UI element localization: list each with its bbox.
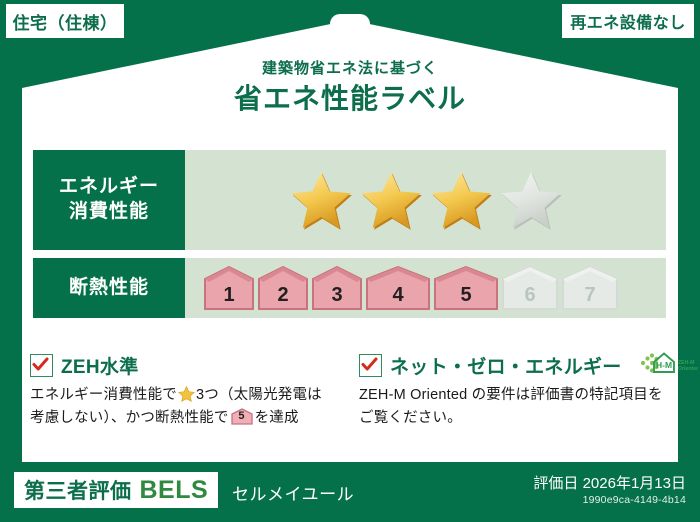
insulation-level-number: 4: [392, 284, 403, 310]
insulation-level-1: 1: [203, 266, 255, 310]
insulation-label-text: 断熱性能: [69, 276, 149, 301]
feature-zeh-body: エネルギー消費性能で3つ（太陽光発電は考慮しない）、かつ断熱性能で5を達成: [30, 384, 335, 431]
insulation-performance-label: 断熱性能: [33, 258, 185, 318]
zeh-m-oriented-logo-icon: H-M ZEH-M Oriented: [636, 350, 698, 381]
zeh-body-post: を達成: [255, 410, 299, 426]
inline-house-badge: 5: [231, 408, 253, 425]
evaluation-id: 1990e9ca-4149-4b14: [583, 494, 686, 506]
svg-text:Oriented: Oriented: [678, 366, 698, 372]
feature-zeh-standard: ZEH水準 エネルギー消費性能で3つ（太陽光発電は考慮しない）、かつ断熱性能で5…: [30, 352, 335, 431]
inline-star-icon: [178, 386, 195, 402]
title-main: 省エネ性能ラベル: [0, 80, 700, 118]
feature-nze-header: ネット・ゼロ・エネルギー H-M ZEH-M Oriente: [359, 352, 664, 378]
zeh-body-pre: エネルギー消費性能で: [30, 387, 177, 403]
insulation-level-4: 4: [365, 266, 431, 310]
feature-columns: ZEH水準 エネルギー消費性能で3つ（太陽光発電は考慮しない）、かつ断熱性能で5…: [30, 352, 670, 431]
page-title: 建築物省エネ法に基づく 省エネ性能ラベル: [0, 60, 700, 118]
insulation-level-number: 3: [331, 284, 342, 310]
energy-performance-label: 住宅（住棟） 再エネ設備なし 建築物省エネ法に基づく 省エネ性能ラベル エネルギ…: [0, 0, 700, 522]
insulation-level-number: 5: [460, 284, 471, 310]
energy-performance-row: エネルギー 消費性能: [33, 150, 666, 250]
insulation-level-3: 3: [311, 266, 363, 310]
insulation-level-number: 2: [277, 284, 288, 310]
star-empty-icon: [500, 170, 562, 230]
insulation-level-number: 6: [524, 284, 535, 310]
feature-nze-body: ZEH-M Oriented の要件は評価書の特記項目をご覧ください。: [359, 384, 664, 431]
house-rating-scale: 1234567: [203, 266, 619, 310]
third-party-label: 第三者評価: [24, 475, 132, 505]
feature-zeh-header: ZEH水準: [30, 352, 335, 378]
energy-label-line1: エネルギー: [59, 175, 159, 200]
feature-zeh-title: ZEH水準: [61, 352, 139, 379]
feature-nze-title: ネット・ゼロ・エネルギー: [390, 352, 622, 379]
insulation-level-number: 7: [584, 284, 595, 310]
star-filled-icon: [290, 170, 352, 230]
title-subtitle: 建築物省エネ法に基づく: [0, 60, 700, 78]
insulation-level-6: 6: [501, 266, 559, 310]
star-rating-panel: [185, 150, 666, 250]
insulation-performance-row: 断熱性能 1234567: [33, 258, 666, 318]
feature-net-zero-energy: ネット・ゼロ・エネルギー H-M ZEH-M Oriente: [359, 352, 664, 431]
checkbox-checked-icon: [359, 354, 382, 377]
checkbox-checked-icon: [30, 354, 53, 377]
building-type-tag: 住宅（住棟）: [6, 4, 124, 38]
renewable-equipment-tag: 再エネ設備なし: [562, 4, 694, 38]
insulation-level-5: 5: [433, 266, 499, 310]
svg-text:H-M: H-M: [656, 360, 672, 370]
star-filled-icon: [430, 170, 492, 230]
evaluation-date: 評価日 2026年1月13日: [533, 472, 686, 493]
bels-plate: 第三者評価 BELS: [14, 472, 218, 508]
insulation-level-number: 1: [223, 284, 234, 310]
star-filled-icon: [360, 170, 422, 230]
footer-bar: 第三者評価 BELS セルメイユール 評価日 2026年1月13日 1990e9…: [0, 464, 700, 522]
insulation-level-7: 7: [561, 266, 619, 310]
energy-performance-label: エネルギー 消費性能: [33, 150, 185, 250]
insulation-level-2: 2: [257, 266, 309, 310]
bels-logo-text: BELS: [140, 476, 209, 505]
brand-name: セルメイユール: [232, 480, 354, 505]
inline-badge-number: 5: [231, 408, 253, 426]
roof-peak-softener: [330, 14, 370, 32]
house-rating-panel: 1234567: [185, 258, 666, 318]
energy-label-line2: 消費性能: [69, 200, 149, 225]
